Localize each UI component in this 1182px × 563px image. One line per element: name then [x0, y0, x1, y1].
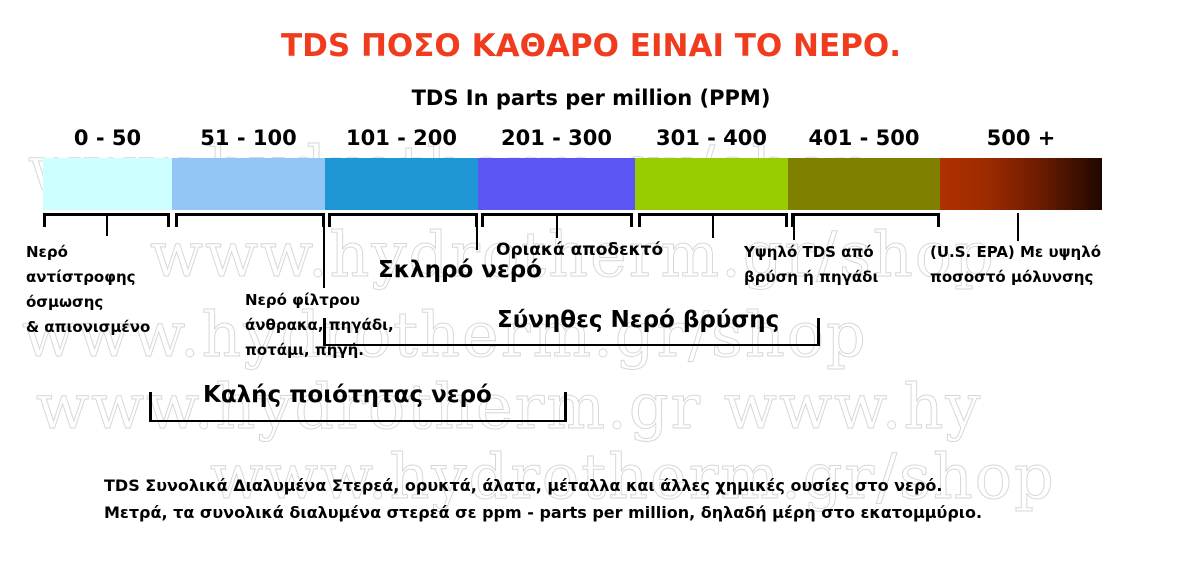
annotation-high-tds: Υψηλό TDS από βρύση ή πηγάδι — [744, 240, 878, 290]
footer-description: TDS Συνολικά Διαλυμένα Στερεά, ορυκτά, ά… — [104, 472, 982, 526]
scale-segment-201-300 — [478, 158, 635, 210]
annotation-hard-water: Σκληρό νερό — [378, 257, 542, 283]
annotation-good-quality-water: Καλής ποιότητας νερό — [203, 382, 492, 408]
scale-segment-301-400 — [635, 158, 788, 210]
range-label-5: 401 - 500 — [788, 126, 940, 150]
leader-line-201-300 — [556, 216, 558, 238]
range-label-4: 301 - 400 — [635, 126, 788, 150]
footer-line-1: TDS Συνολικά Διαλυμένα Στερεά, ορυκτά, ά… — [104, 472, 982, 499]
leader-line-101-200 — [476, 216, 478, 250]
leader-line-401-500 — [793, 216, 795, 240]
scale-segment-0-50 — [43, 158, 172, 210]
leader-line-301-400 — [712, 216, 714, 238]
range-label-3: 201 - 300 — [478, 126, 635, 150]
range-label-1: 51 - 100 — [172, 126, 325, 150]
chart-subtitle: TDS In parts per million (PPM) — [0, 86, 1182, 110]
annotation-carbon-filter: Νερό φίλτρου άνθρακα, πηγάδι, ποτάμι, πη… — [245, 288, 394, 363]
range-label-0: 0 - 50 — [43, 126, 172, 150]
annotation-reverse-osmosis: Νερό αντίστροφης όσμωσης & απιονισμένο — [26, 240, 150, 340]
range-label-2: 101 - 200 — [325, 126, 478, 150]
scale-segment-101-200 — [325, 158, 478, 210]
scale-segment-51-100 — [172, 158, 325, 210]
scale-segment-401-500 — [788, 158, 940, 210]
tds-color-scale — [43, 158, 1102, 210]
page-title: TDS ΠΟΣΟ ΚΑΘΑΡΟ ΕΙΝΑΙ ΤΟ ΝΕΡΟ. — [0, 28, 1182, 64]
range-label-6: 500 + — [940, 126, 1102, 150]
leader-line-51-100 — [323, 216, 325, 288]
annotation-common-tap-water: Σύνηθες Νερό βρύσης — [497, 307, 779, 333]
annotation-epa-contamination: (U.S. EPA) Με υψηλό ποσοστό μόλυνσης — [930, 240, 1101, 290]
leader-line-0-50 — [106, 216, 108, 236]
annotation-marginally-acceptable: Οριακά αποδεκτό — [496, 240, 663, 260]
leader-line-500-plus — [1017, 213, 1019, 241]
footer-line-2: Μετρά, τα συνολικά διαλυμένα στερεά σε p… — [104, 499, 982, 526]
scale-segment-500-plus — [940, 158, 1102, 210]
